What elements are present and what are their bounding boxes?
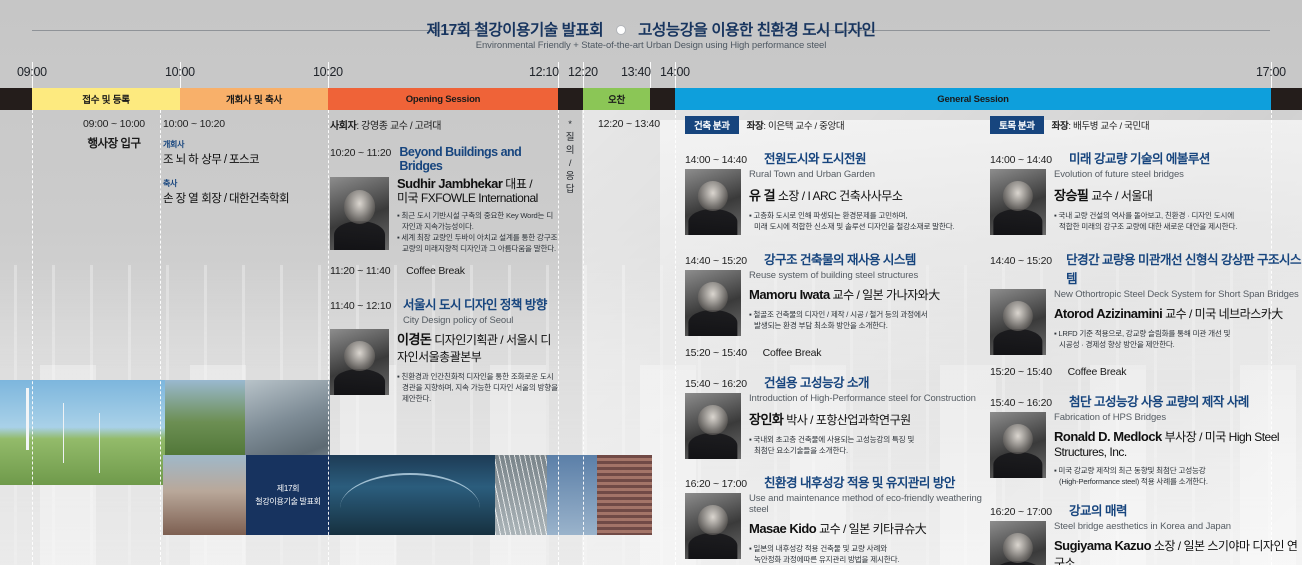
registration-time: 09:00 ~ 10:00 <box>70 118 158 130</box>
session-item[interactable]: 11:40 ~ 12:10 서울시 도시 디자인 정책 방향 City Desi… <box>330 294 558 404</box>
session-time: 11:40 ~ 12:10 <box>330 300 396 312</box>
session-title-ko: Beyond Buildings and Bridges <box>399 145 558 173</box>
session-bullet: 발생되는 환경 부담 최소화 방안을 소개한다. <box>749 320 985 331</box>
bar-opening-session[interactable]: Opening Session <box>328 88 558 110</box>
bar-lunch-label: 오찬 <box>608 92 625 106</box>
speaker-portrait <box>685 493 741 559</box>
session-speaker-rest: 교수 / 일본 키타큐슈大 <box>819 522 926 536</box>
session-bullet: ▪ 국내 교량 건설의 역사를 돌아보고, 친환경 · 디자인 도시에 <box>1054 210 1302 221</box>
session-title-ko: 서울시 도시 디자인 정책 방향 <box>403 294 547 313</box>
tick-label-1220: 12:20 <box>568 65 598 79</box>
session-bullet: ▪ 일본의 내후성강 적용 건축물 및 교량 사례와 <box>749 543 985 554</box>
session-time: 16:20 ~ 17:00 <box>685 478 757 490</box>
session-title-en: New Othortropic Steel Deck System for Sh… <box>1054 289 1302 300</box>
session-coffee-break: 15:20 ~ 15:40 Coffee Break <box>990 366 1302 378</box>
session-speaker-name: 유 걸 <box>749 188 775 203</box>
bullet-separator-icon <box>617 26 625 34</box>
session-bullet: 녹안정화 과정에따른 유지관리 방법을 제시한다. <box>749 554 985 565</box>
session-speaker-rest: 소장 / I ARC 건축사사무소 <box>778 189 903 203</box>
session-speaker-name: Mamoru Iwata <box>749 287 830 302</box>
session-time: 10:20 ~ 11:20 <box>330 147 392 159</box>
track-tag: 건축 분과 <box>685 116 739 134</box>
session-title-ko: 미래 강교량 기술의 에볼루션 <box>1069 148 1210 167</box>
bar-general-session-label: General Session <box>937 94 1008 105</box>
session-time: 14:40 ~ 15:20 <box>990 255 1059 267</box>
track-header: 건축 분과좌장: 이은택 교수 / 중앙대 <box>685 116 985 134</box>
host-label: 사회자 <box>330 121 356 132</box>
session-speaker-name: 장인화 <box>749 412 783 427</box>
speaker-portrait <box>990 169 1046 235</box>
block-track-civil: 토목 분과좌장: 배두병 교수 / 국민대 14:00 ~ 14:40 미래 강… <box>990 110 1302 565</box>
session-title-ko: 전원도시와 도시전원 <box>764 148 866 167</box>
speaker-portrait <box>990 521 1046 565</box>
poster-header: 제17회 철강이용기술 발표회 고성능강을 이용한 친환경 도시 디자인 Env… <box>0 0 1302 62</box>
track-header: 토목 분과좌장: 배두병 교수 / 국민대 <box>990 116 1302 134</box>
session-speaker-rest: 교수 / 서울대 <box>1091 189 1152 203</box>
session-title-ko: 친환경 내후성강 적용 및 유지관리 방안 <box>764 472 955 491</box>
session-item[interactable]: 15:40 ~ 16:20 건설용 고성능강 소개 Introduction o… <box>685 372 985 459</box>
session-speaker-name: Masae Kido <box>749 521 816 536</box>
title-sub: 고성능강을 이용한 친환경 도시 디자인 <box>638 22 875 39</box>
block-registration: 09:00 ~ 10:00 행사장 입구 <box>70 110 158 151</box>
coffee-label: Coffee Break <box>406 265 465 277</box>
coffee-label: Coffee Break <box>763 347 822 359</box>
coffee-time: 11:20 ~ 11:40 <box>330 265 390 277</box>
session-bullet: ▪ 미국 강교량 제작의 최근 동향및 최첨단 고성능강 <box>1054 465 1302 476</box>
session-coffee-break: 15:20 ~ 15:40 Coffee Break <box>685 347 985 359</box>
session-speaker-name: Sudhir Jambhekar <box>397 176 502 191</box>
session-bullet: ▪ 철골조 건축물의 디자인 / 제작 / 시공 / 철거 등의 과정에서 <box>749 309 985 320</box>
track-tag: 토목 분과 <box>990 116 1044 134</box>
speaker-portrait <box>330 329 389 395</box>
session-item[interactable]: 14:40 ~ 15:20 강구조 건축물의 재사용 시스템 Reuse sys… <box>685 249 985 336</box>
block-track-architecture: 건축 분과좌장: 이은택 교수 / 중앙대 14:00 ~ 14:40 전원도시… <box>685 110 985 565</box>
session-bullet: 미래 도시에 적합한 신소재 및 솔루션 디자인을 철강소재로 말한다. <box>749 221 985 232</box>
tick-label-1700: 17:00 <box>1256 65 1286 79</box>
session-coffee-break: 11:20 ~ 11:40 Coffee Break <box>330 265 558 277</box>
tick-label-1210: 12:10 <box>529 65 559 79</box>
coffee-label: Coffee Break <box>1068 366 1127 378</box>
bar-opening-remarks-label: 개회사 및 축사 <box>226 92 282 106</box>
session-bullet: 최첨단 요소기술들을 소개한다. <box>749 445 985 456</box>
session-time: 14:00 ~ 14:40 <box>685 154 757 166</box>
session-item[interactable]: 15:40 ~ 16:20 첨단 고성능강 사용 교량의 제작 사례 Fabri… <box>990 391 1302 487</box>
session-title-en: Fabrication of HPS Bridges <box>1054 412 1302 423</box>
bar-registration-label: 접수 및 등록 <box>82 92 130 106</box>
session-time: 16:20 ~ 17:00 <box>990 506 1062 518</box>
session-speaker-name: Sugiyama Kazuo <box>1054 538 1151 553</box>
bar-opening-remarks[interactable]: 개회사 및 축사 <box>180 88 328 110</box>
session-speaker-name: 이경돈 <box>397 332 431 347</box>
bar-spacer-left <box>0 88 32 110</box>
speaker-affiliation-greeting: 상무 / 포스코 <box>201 154 259 166</box>
session-item[interactable]: 10:20 ~ 11:20 Beyond Buildings and Bridg… <box>330 145 558 254</box>
tick-label-1400: 14:00 <box>660 65 690 79</box>
title-main: 제17회 철강이용기술 발표회 <box>426 22 603 39</box>
speaker-portrait <box>990 412 1046 478</box>
bar-gap-transition <box>650 88 675 110</box>
session-item[interactable]: 16:20 ~ 17:00 친환경 내후성강 적용 및 유지관리 방안 Use … <box>685 472 985 565</box>
session-bullet: ▪ 고층화 도시로 인해 파생되는 환경문제를 고민하며, <box>749 210 985 221</box>
session-title-en: Reuse system of building steel structure… <box>749 270 985 281</box>
session-time: 15:40 ~ 16:20 <box>685 378 757 390</box>
session-speaker-rest: 교수 / 미국 네브라스카大 <box>1165 307 1283 321</box>
session-title-en: Evolution of future steel bridges <box>1054 169 1302 180</box>
speaker-portrait <box>685 393 741 459</box>
session-bullet: ▪ LRFD 기준 적용으로, 강교량 슬림화를 통해 미관 개선 및 <box>1054 328 1302 339</box>
speaker-name-greeting: 조 뇌 하 <box>163 154 198 166</box>
bar-opening-session-label: Opening Session <box>406 94 481 105</box>
bar-lunch[interactable]: 오찬 <box>583 88 650 110</box>
role-label-congratulation: 축사 <box>163 178 323 189</box>
session-speaker-rest: 박사 / 포항산업과학연구원 <box>786 413 910 427</box>
session-title-en: Introduction of High-Performance steel f… <box>749 393 985 404</box>
coffee-time: 15:20 ~ 15:40 <box>990 366 1052 378</box>
session-title-ko: 건설용 고성능강 소개 <box>764 372 869 391</box>
session-speaker-name: 장승필 <box>1054 188 1088 203</box>
session-bullet: ▪ 친환경과 인간친화적 디자인을 통한 조화로운 도시경관을 지향하며, 지속… <box>397 371 558 404</box>
track-chair: 좌장: 이은택 교수 / 중앙대 <box>747 121 845 132</box>
opening-remarks-time: 10:00 ~ 10:20 <box>163 118 323 130</box>
bar-registration[interactable]: 접수 및 등록 <box>32 88 180 110</box>
tick-label-0900: 09:00 <box>17 65 47 79</box>
qa-vertical-note: *질의/응답 <box>561 118 579 196</box>
session-title-ko: 단경간 교량용 미관개선 신형식 강상판 구조시스템 <box>1066 249 1302 287</box>
bar-gap-qa <box>558 88 583 110</box>
speaker-portrait <box>330 177 389 250</box>
session-bullet: (High-Performance steel) 적용 사례를 소개한다. <box>1054 476 1302 487</box>
bar-general-session[interactable]: General Session <box>675 88 1271 110</box>
session-title-ko: 강교의 매력 <box>1069 500 1127 519</box>
session-time: 14:00 ~ 14:40 <box>990 154 1062 166</box>
session-bullet: ▪ 최근 도시 기반시설 구축의 중요한 Key Word는 디자인과 지속가능… <box>397 210 558 232</box>
page-subtitle: Environmental Friendly + State-of-the-ar… <box>0 40 1302 51</box>
role-label-greeting: 개회사 <box>163 139 323 150</box>
session-speaker-name: Ronald D. Medlock <box>1054 429 1162 444</box>
session-bullet: ▪ 세계 최장 교량인 두바이 아치교 설계를 통한 강구조 교량의 미래지향적… <box>397 232 558 254</box>
bar-spacer-right <box>1271 88 1302 110</box>
opening-session-host: 사회자: 강영종 교수 / 고려대 <box>330 117 558 132</box>
registration-place: 행사장 입구 <box>70 135 158 151</box>
lunch-time: 12:20 ~ 13:40 <box>585 118 673 130</box>
session-title-ko: 강구조 건축물의 재사용 시스템 <box>764 249 916 268</box>
speaker-name-congratulation: 손 장 열 <box>163 193 198 205</box>
tick-label-1340: 13:40 <box>621 65 651 79</box>
page-title: 제17회 철강이용기술 발표회 고성능강을 이용한 친환경 도시 디자인 <box>0 18 1302 40</box>
track-chair: 좌장: 배두병 교수 / 국민대 <box>1052 121 1150 132</box>
schedule-content: 09:00 ~ 10:00 행사장 입구 10:00 ~ 10:20 개회사 조… <box>0 110 1302 565</box>
session-title-en: Use and maintenance method of eco-friend… <box>749 493 985 515</box>
session-bullet: 적합한 미래의 강구조 교량에 대한 새로운 대안을 제시한다. <box>1054 221 1302 232</box>
session-item[interactable]: 14:00 ~ 14:40 미래 강교량 기술의 에볼루션 Evolution … <box>990 148 1302 235</box>
speaker-affiliation-congratulation: 회장 / 대한건축학회 <box>201 193 289 205</box>
speaker-portrait <box>685 270 741 336</box>
session-bullet: ▪ 국내외 초고층 건축물에 사용되는 고성능강의 특징 및 <box>749 434 985 445</box>
host-value: : 강영종 교수 / 고려대 <box>356 121 441 132</box>
speaker-portrait <box>990 289 1046 355</box>
session-speaker-rest: 교수 / 일본 가나자와大 <box>833 288 940 302</box>
session-title-en: Steel bridge aesthetics in Korea and Jap… <box>1054 521 1302 532</box>
session-item[interactable]: 16:20 ~ 17:00 강교의 매력 Steel bridge aesthe… <box>990 500 1302 565</box>
session-speaker-role: 대표 / <box>505 177 532 191</box>
session-time: 14:40 ~ 15:20 <box>685 255 757 267</box>
session-bullet: 시공성 · 경제성 향상 방안을 제안한다. <box>1054 339 1302 350</box>
session-title-en: Rural Town and Urban Garden <box>749 169 985 180</box>
session-title-en: City Design policy of Seoul <box>403 315 558 326</box>
block-opening-remarks: 10:00 ~ 10:20 개회사 조 뇌 하 상무 / 포스코 축사 손 장 … <box>163 110 323 206</box>
session-speaker-affiliation: 미국 FXFOWLE International <box>397 191 538 205</box>
session-speaker-name: Atorod Azizinamini <box>1054 306 1162 321</box>
session-time: 15:40 ~ 16:20 <box>990 397 1062 409</box>
session-title-ko: 첨단 고성능강 사용 교량의 제작 사례 <box>1069 391 1249 410</box>
block-lunch: 12:20 ~ 13:40 <box>585 110 673 130</box>
session-item[interactable]: 14:00 ~ 14:40 전원도시와 도시전원 Rural Town and … <box>685 148 985 235</box>
block-opening-session: 사회자: 강영종 교수 / 고려대 10:20 ~ 11:20 Beyond B… <box>330 110 558 404</box>
tick-label-1000: 10:00 <box>165 65 195 79</box>
speaker-portrait <box>685 169 741 235</box>
tick-label-1020: 10:20 <box>313 65 343 79</box>
timeline-bars: 접수 및 등록 개회사 및 축사 Opening Session 오찬 Gene… <box>0 88 1302 110</box>
coffee-time: 15:20 ~ 15:40 <box>685 347 747 359</box>
timeline-axis: 09:00 10:00 10:20 12:10 12:20 13:40 14:0… <box>0 62 1302 88</box>
session-item[interactable]: 14:40 ~ 15:20 단경간 교량용 미관개선 신형식 강상판 구조시스템… <box>990 249 1302 355</box>
